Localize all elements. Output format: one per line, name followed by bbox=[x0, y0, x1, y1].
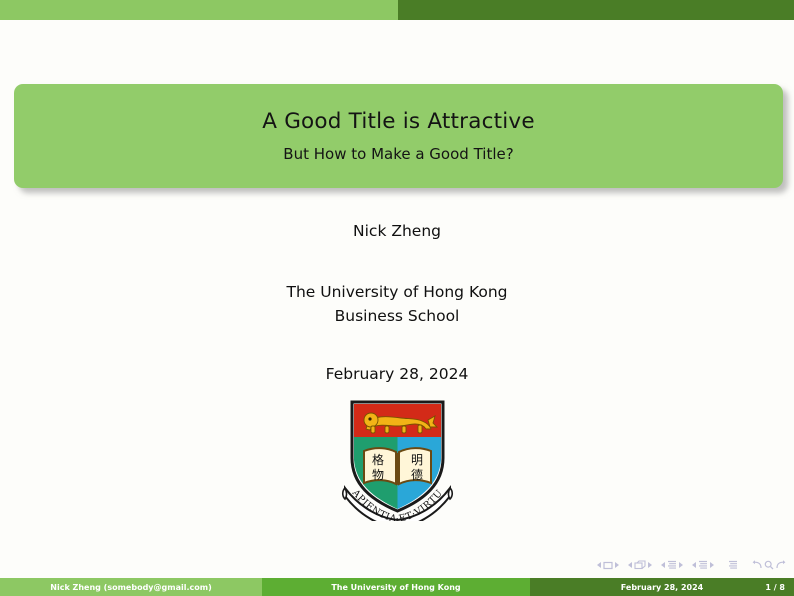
subsection-icon[interactable] bbox=[667, 560, 677, 570]
subsection-next-icon[interactable] bbox=[679, 562, 683, 568]
top-bar-light-segment bbox=[0, 0, 398, 20]
beamer-navigation-symbols[interactable] bbox=[597, 556, 786, 574]
section-prev-icon[interactable] bbox=[692, 562, 696, 568]
book-char-right-bottom: 德 bbox=[410, 467, 422, 482]
presentation-icon[interactable] bbox=[728, 560, 738, 570]
institute-line-2: Business School bbox=[0, 304, 794, 328]
frame-prev-icon[interactable] bbox=[628, 562, 632, 568]
footer-institute-segment: The University of Hong Kong bbox=[262, 578, 530, 596]
section-icon[interactable] bbox=[698, 560, 708, 570]
book-char-left-bottom: 物 bbox=[371, 468, 383, 482]
top-bar-dark-segment bbox=[398, 0, 794, 20]
institute-line-1: The University of Hong Kong bbox=[0, 280, 794, 304]
frame-navigation-group[interactable] bbox=[628, 560, 652, 570]
hku-crest-icon: 格 物 明 德 SAPIENTIA·ET·VIRTUS bbox=[340, 396, 455, 521]
forward-arrow-icon[interactable] bbox=[775, 560, 786, 570]
footer-date-text: February 28, 2024 bbox=[530, 583, 794, 592]
footer-page-number: 1 / 8 bbox=[765, 583, 785, 592]
slide-icon[interactable] bbox=[603, 561, 613, 570]
slide-next-icon[interactable] bbox=[615, 562, 619, 568]
back-arrow-icon[interactable] bbox=[752, 560, 763, 570]
footer-author-segment: Nick Zheng (somebody@gmail.com) bbox=[0, 578, 262, 596]
title-block: A Good Title is Attractive But How to Ma… bbox=[14, 84, 783, 188]
book-char-right-top: 明 bbox=[410, 453, 422, 467]
section-navigation-group[interactable] bbox=[692, 560, 714, 570]
slide-subtitle: But How to Make a Good Title? bbox=[283, 145, 513, 163]
history-navigation-group[interactable] bbox=[752, 560, 786, 570]
title-page-credits: Nick Zheng The University of Hong Kong B… bbox=[0, 222, 794, 383]
logo-container: 格 物 明 德 SAPIENTIA·ET·VIRTUS bbox=[0, 396, 794, 521]
slide-title: A Good Title is Attractive bbox=[262, 109, 535, 134]
footer-date-segment: February 28, 2024 1 / 8 bbox=[530, 578, 794, 596]
frame-icon[interactable] bbox=[634, 560, 646, 570]
footer-institute-text: The University of Hong Kong bbox=[331, 583, 460, 592]
top-decoration-bar bbox=[0, 0, 794, 20]
section-next-icon[interactable] bbox=[710, 562, 714, 568]
presentation-date: February 28, 2024 bbox=[0, 365, 794, 383]
book-char-left-top: 格 bbox=[371, 452, 383, 467]
slide-navigation-group[interactable] bbox=[597, 561, 619, 570]
subsection-prev-icon[interactable] bbox=[661, 562, 665, 568]
institute-block: The University of Hong Kong Business Sch… bbox=[0, 280, 794, 328]
slide-prev-icon[interactable] bbox=[597, 562, 601, 568]
subsection-navigation-group[interactable] bbox=[661, 560, 683, 570]
frame-next-icon[interactable] bbox=[648, 562, 652, 568]
slide-footer: Nick Zheng (somebody@gmail.com) The Univ… bbox=[0, 578, 794, 596]
search-icon[interactable] bbox=[764, 560, 774, 570]
footer-author-text: Nick Zheng (somebody@gmail.com) bbox=[50, 583, 211, 592]
author-name: Nick Zheng bbox=[0, 222, 794, 240]
